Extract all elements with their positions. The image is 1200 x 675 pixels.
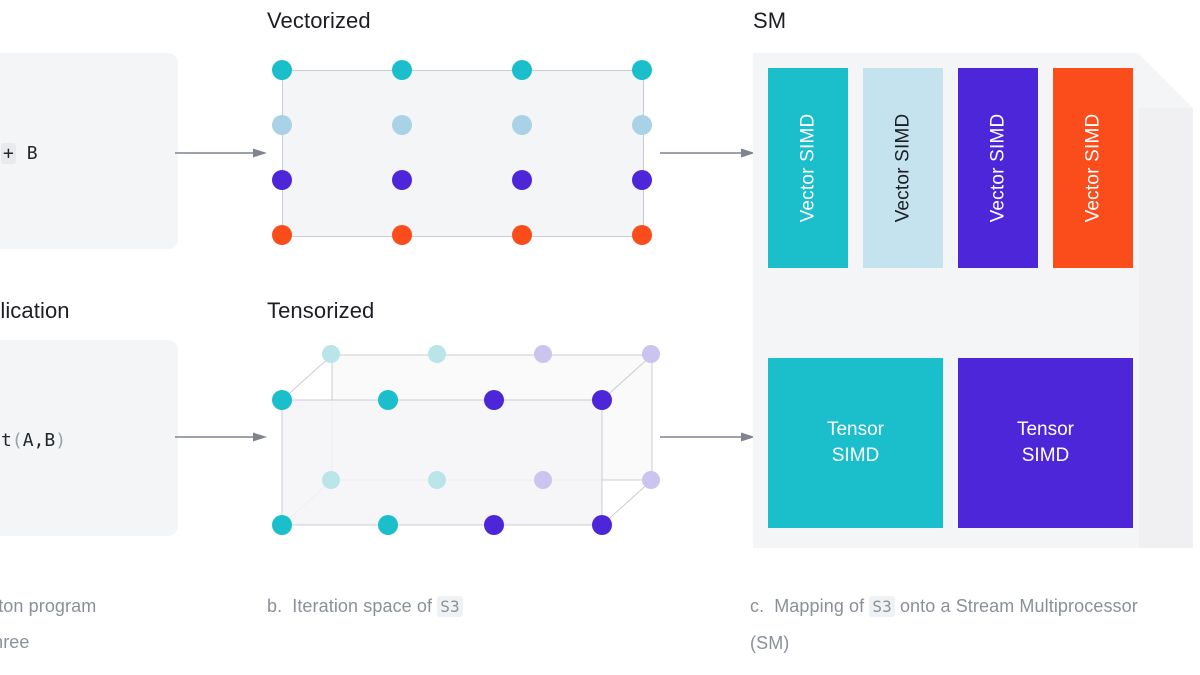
vectorized-title: Vectorized [267, 8, 371, 34]
tensorized-back-dot [428, 471, 446, 489]
caption-c: c.Mapping of S3 onto a Stream Multiproce… [750, 588, 1150, 661]
code-dot-args: A,B [23, 430, 56, 451]
tensorized-back-dot [322, 471, 340, 489]
tensorized-back-dot [534, 471, 552, 489]
tensorized-front-dot [272, 390, 292, 410]
vectorized-dot [272, 170, 292, 190]
tensorized-front-dot [592, 515, 612, 535]
vectorized-dot [272, 225, 292, 245]
dot-product-code-card: · · · · · · dot(A,B) [0, 340, 178, 536]
tensorized-title: Tensorized [267, 298, 374, 324]
vector-add-code-card: · · · · · · A + B [0, 53, 178, 249]
caption-c-mono: S3 [869, 596, 894, 617]
tensor-simd-label: Tensor SIMD [827, 417, 884, 469]
vectorized-dot [392, 60, 412, 80]
vector-simd-block[interactable]: Vector SIMD [958, 68, 1038, 268]
caption-c-text-before: Mapping of [774, 596, 869, 616]
tensorized-front-dot [484, 390, 504, 410]
vectorized-dot [632, 115, 652, 135]
vector-simd-block[interactable]: Vector SIMD [768, 68, 848, 268]
vectorized-dot [392, 225, 412, 245]
vectorized-face [282, 70, 644, 237]
caption-a: riton program three [0, 588, 238, 660]
tensorized-iteration-space [267, 345, 662, 540]
code-operand-b: B [27, 143, 38, 164]
vector-simd-block[interactable]: Vector SIMD [1053, 68, 1133, 268]
tensorized-front-dot [378, 390, 398, 410]
code-ellipsis-line-3: · · · [0, 364, 160, 386]
sm-title: SM [753, 8, 786, 34]
caption-a-line-2: three [0, 624, 238, 660]
tensorized-back-dot [428, 345, 446, 363]
sm-panel-wrapper: Vector SIMD Vector SIMD Vector SIMD Vect… [753, 53, 1193, 548]
vector-simd-block[interactable]: Vector SIMD [863, 68, 943, 268]
vector-simd-label: Vector SIMD [1082, 114, 1104, 223]
tensor-simd-block[interactable]: Tensor SIMD [958, 358, 1133, 528]
vectorized-dot [632, 170, 652, 190]
vectorized-dot [512, 115, 532, 135]
caption-b-mono: S3 [437, 596, 462, 617]
caption-b-text: Iteration space of [292, 596, 437, 616]
tensor-simd-block[interactable]: Tensor SIMD [768, 358, 943, 528]
tensorized-front-dot [592, 390, 612, 410]
tensorized-front-dot [272, 515, 292, 535]
vector-simd-label: Vector SIMD [797, 114, 819, 223]
tensor-simd-label: Tensor SIMD [1017, 417, 1074, 469]
code-expression-line: A + B [0, 121, 160, 187]
caption-c-label: c. [750, 596, 764, 616]
code-dot-identifier: dot [0, 430, 12, 451]
vectorized-dot [632, 60, 652, 80]
code-ellipsis-line-2: · · · [0, 99, 160, 121]
tensorized-front-dot [378, 515, 398, 535]
tensorized-back-dot [534, 345, 552, 363]
tensorized-back-dot [642, 471, 660, 489]
caption-b: b.Iteration space of S3 [267, 588, 687, 625]
vector-simd-label: Vector SIMD [892, 114, 914, 223]
code-dot-call-line: dot(A,B) [0, 408, 160, 474]
vectorized-dot [512, 60, 532, 80]
caption-b-label: b. [267, 596, 282, 616]
panel-a-subtitle-fragment: plication [0, 298, 70, 324]
arrow-a-to-b-bottom [175, 431, 267, 443]
vectorized-dot [512, 170, 532, 190]
arrow-a-to-b-top [175, 147, 267, 159]
code-ellipsis-line-4: · · · [0, 386, 160, 408]
code-ellipsis-line-1: · · · [0, 77, 160, 99]
code-operator-plus: + [1, 143, 16, 164]
arrow-b-to-c-top [660, 147, 755, 159]
vectorized-dot [272, 115, 292, 135]
vectorized-dot [392, 115, 412, 135]
caption-a-line-1: riton program [0, 588, 238, 624]
vectorized-iteration-space [267, 55, 657, 250]
tensorized-back-dot [322, 345, 340, 363]
vectorized-dot [392, 170, 412, 190]
tensorized-front-dot [484, 515, 504, 535]
arrow-b-to-c-bottom [660, 431, 755, 443]
vectorized-dot [272, 60, 292, 80]
vector-simd-label: Vector SIMD [987, 114, 1009, 223]
tensorized-back-dot [642, 345, 660, 363]
vectorized-dot [512, 225, 532, 245]
vectorized-dot [632, 225, 652, 245]
